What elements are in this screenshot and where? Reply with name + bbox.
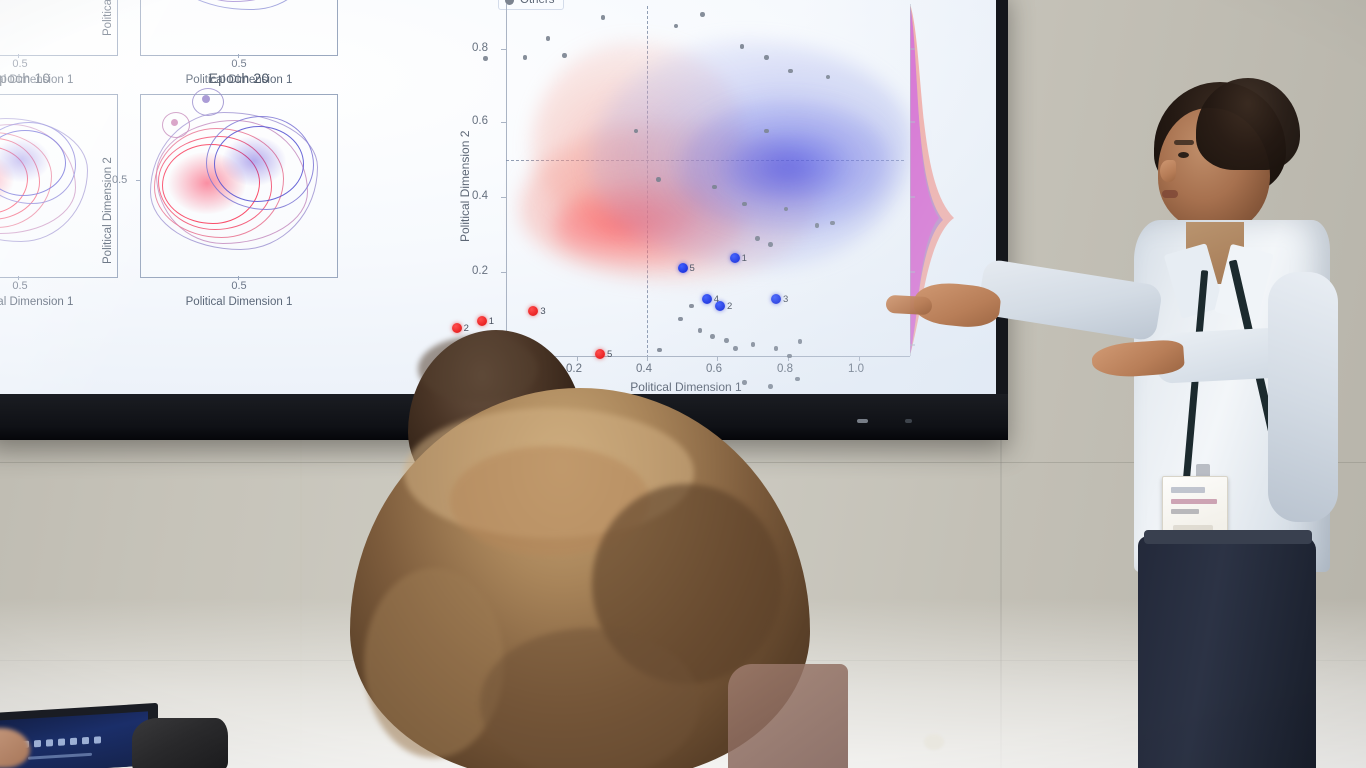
subplot-0-xtick: 0.5	[0, 58, 118, 70]
subplot-3-ytick: 0.5	[112, 174, 127, 186]
small-white-object	[924, 734, 944, 750]
presenter-hair-top	[1196, 78, 1300, 170]
blue-point-4[interactable]	[702, 294, 712, 304]
main-joint-density-chart: Others	[462, 0, 996, 387]
laptop-ui-line	[28, 753, 92, 760]
subplot-3-ylabel: Political Dimension 2	[102, 157, 114, 264]
subplot-3-title: Epoch 20	[140, 70, 338, 86]
presentation-room-scene: 0.5 Political Dimension 1	[0, 0, 1366, 768]
subplot-epoch-0: 0.5 Political Dimension 1	[0, 0, 118, 56]
attendee-2-garment	[728, 664, 848, 768]
presenter-index-finger	[886, 295, 933, 315]
subplot-epoch-20: Epoch 20	[140, 94, 338, 294]
subplot-3-xtick: 0.5	[140, 280, 338, 292]
blue-point-label-4: 4	[714, 294, 719, 305]
blue-point-label-1: 1	[742, 253, 747, 264]
subplot-2-xtick: 0.5	[0, 280, 118, 292]
dock-icon-4[interactable]	[58, 738, 65, 745]
blue-point-label-2: 2	[727, 301, 732, 312]
dock-icon-2[interactable]	[34, 740, 41, 747]
subplot-3-xlabel: Political Dimension 1	[140, 296, 338, 308]
presenter-eyebrow	[1174, 140, 1194, 145]
subplot-1-ylabel: Political Dimension 2	[102, 0, 114, 36]
presenter-eye	[1178, 152, 1189, 158]
presenter-mouth	[1162, 190, 1178, 198]
attendee-blonde-hair	[330, 388, 820, 768]
blue-point-5[interactable]	[678, 263, 688, 273]
small-multiples-grid: 0.5 Political Dimension 1	[18, 0, 438, 394]
dock-icon-7[interactable]	[94, 736, 101, 743]
presenter-right-arm	[1268, 272, 1338, 522]
blue-point-label-5: 5	[690, 263, 695, 274]
subplot-1-xtick: 0.5	[140, 58, 338, 70]
presenter	[1100, 72, 1366, 768]
subplot-2-title: Epoch 10	[0, 70, 118, 86]
subplot-epoch-10: Epoch 10 0.5	[0, 94, 118, 294]
subplot-2-xlabel: Political Dimension 1	[0, 296, 118, 308]
subplot-epoch-5: 0.5 Political Dimension 2 0.5 Political …	[140, 0, 338, 56]
blue-point-3[interactable]	[771, 294, 781, 304]
blue-point-label-3: 3	[783, 294, 788, 305]
laptop-dock[interactable]	[22, 736, 101, 748]
blue-point-1[interactable]	[730, 253, 740, 263]
dock-icon-5[interactable]	[70, 738, 77, 745]
presenter-belt	[1144, 530, 1312, 544]
presenter-nose	[1160, 160, 1176, 182]
laptop-bag	[132, 718, 228, 768]
display-power-led	[857, 419, 868, 423]
display-sensor	[905, 419, 912, 423]
attendee-laptop[interactable]	[0, 700, 240, 768]
presenter-trousers	[1138, 536, 1316, 768]
dock-icon-6[interactable]	[82, 737, 89, 744]
dock-icon-3[interactable]	[46, 739, 53, 746]
